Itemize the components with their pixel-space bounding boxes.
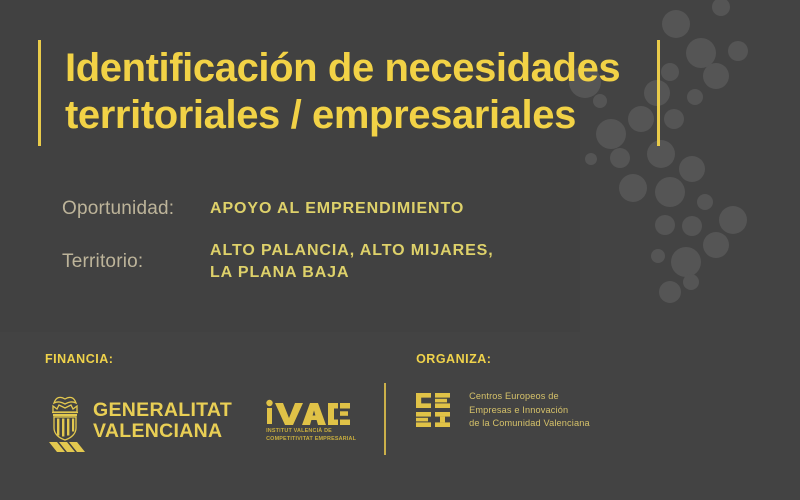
ceei-logo: Centros Europeos de Empresas e Innovació… — [416, 390, 590, 431]
territorio-value-line-2: LA PLANA BAJA — [210, 262, 494, 284]
gva-wordmark-line-1: GENERALITAT — [93, 400, 232, 421]
title-block: Identificación de necesidades territoria… — [38, 33, 660, 151]
ceei-description-line-2: Empresas e Innovación — [469, 404, 590, 418]
page-title: Identificación de necesidades territoria… — [41, 33, 657, 151]
generalitat-valenciana-logo: GENERALITAT VALENCIANA — [45, 390, 232, 452]
gva-wordmark-line-2: VALENCIANA — [93, 421, 232, 442]
ivace-subtitle: INSTITUT VALENCIÀ DE COMPETITIVITAT EMPR… — [266, 428, 350, 443]
financia-heading: FINANCIA: — [45, 352, 350, 366]
title-rule-right — [657, 40, 660, 146]
footer: FINANCIA: — [45, 352, 565, 455]
financia-section: FINANCIA: — [45, 352, 350, 452]
info-block: Oportunidad: APOYO AL EMPRENDIMIENTO Ter… — [62, 198, 532, 283]
ceei-monogram-icon — [416, 393, 460, 427]
ceei-description-line-3: de la Comunidad Valenciana — [469, 417, 590, 431]
page-title-line-1: Identificación de necesidades — [65, 45, 635, 92]
ivace-wordmark-icon — [266, 399, 350, 425]
info-row-oportunidad: Oportunidad: APOYO AL EMPRENDIMIENTO — [62, 198, 532, 220]
organiza-section: ORGANIZA: — [416, 352, 590, 431]
ivace-logo: INSTITUT VALENCIÀ DE COMPETITIVITAT EMPR… — [266, 399, 350, 443]
ivace-subtitle-line-1: INSTITUT VALENCIÀ DE — [266, 428, 350, 435]
ceei-description-line-1: Centros Europeos de — [469, 390, 590, 404]
territorio-value: ALTO PALANCIA, ALTO MIJARES, LA PLANA BA… — [210, 240, 494, 283]
ivace-subtitle-line-2: COMPETITIVITAT EMPRESARIAL — [266, 436, 350, 443]
territorio-value-line-1: ALTO PALANCIA, ALTO MIJARES, — [210, 240, 494, 262]
organiza-heading: ORGANIZA: — [416, 352, 590, 366]
oportunidad-value: APOYO AL EMPRENDIMIENTO — [210, 198, 464, 220]
gva-wordmark: GENERALITAT VALENCIANA — [93, 400, 232, 442]
financia-logos: GENERALITAT VALENCIANA — [45, 390, 350, 452]
gva-coat-of-arms-icon — [45, 390, 85, 452]
page-title-line-2: territoriales / empresariales — [65, 92, 635, 139]
info-row-territorio: Territorio: ALTO PALANCIA, ALTO MIJARES,… — [62, 240, 532, 283]
oportunidad-label: Oportunidad: — [62, 198, 210, 220]
footer-divider — [384, 383, 386, 455]
ceei-description: Centros Europeos de Empresas e Innovació… — [469, 390, 590, 431]
territorio-label: Territorio: — [62, 251, 210, 273]
